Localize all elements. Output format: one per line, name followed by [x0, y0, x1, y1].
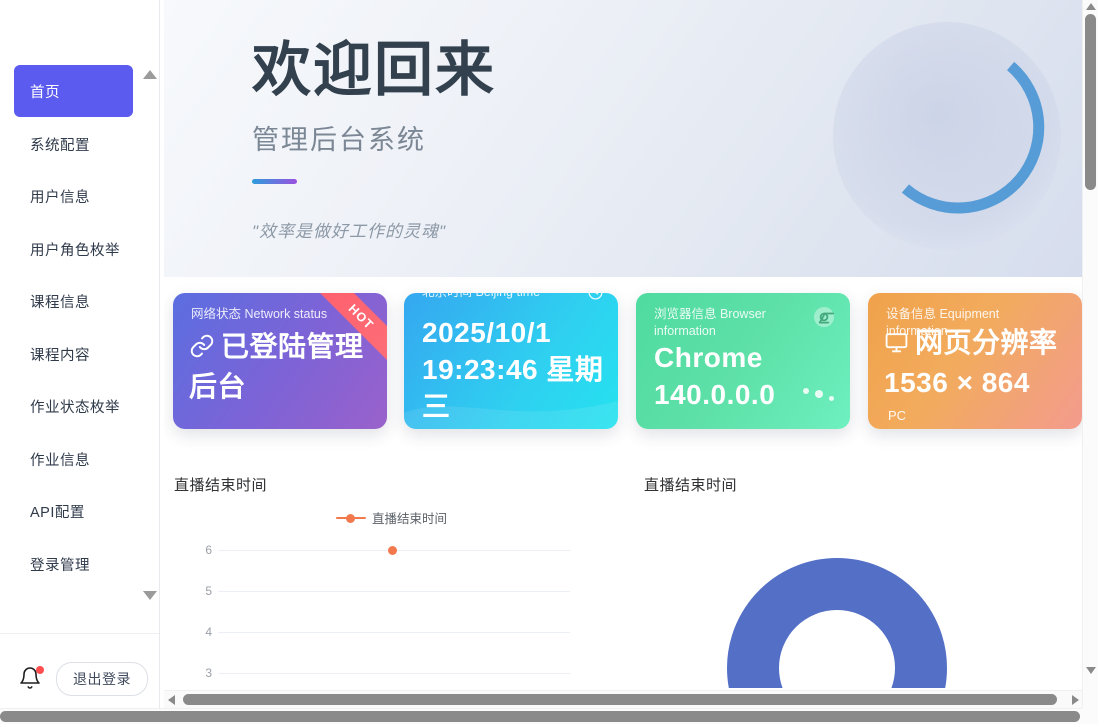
accent-divider	[252, 179, 297, 184]
scrollbar-thumb[interactable]	[183, 694, 1057, 705]
welcome-banner-text: 欢迎回来 管理后台系统 "效率是做好工作的灵魂"	[252, 40, 712, 242]
stat-card-label: 浏览器信息 Browser information	[654, 306, 804, 340]
stat-card-value-text: 已登陆管理后台	[189, 331, 364, 402]
stat-card-browser-info[interactable]: 浏览器信息 Browser information Chrome 140.0.0…	[636, 293, 850, 429]
triangle-down-icon[interactable]	[143, 591, 157, 601]
arrow-down-icon[interactable]	[1086, 667, 1096, 674]
stat-card-label-text: 北京时间 Beijing time	[422, 293, 540, 299]
chart-title: 直播结束时间	[644, 474, 737, 495]
sidebar-item-label: 系统配置	[30, 134, 90, 155]
sidebar-item-label: 课程信息	[30, 291, 90, 312]
scrollbar-thumb[interactable]	[1085, 14, 1096, 190]
sidebar-item-label: 用户信息	[30, 186, 90, 207]
stat-card-label: 北京时间 Beijing time	[422, 293, 572, 306]
chart-gridline	[218, 591, 570, 592]
scrollbar-corner	[1082, 708, 1098, 724]
clock-icon	[587, 293, 604, 306]
stat-card-value: 已登陆管理后台	[189, 329, 377, 406]
y-axis-tick-label: 6	[192, 543, 212, 557]
stat-card-device-info[interactable]: 设备信息 Equipment information 网页分辨率 1536 × …	[868, 293, 1082, 429]
monitor-icon	[884, 328, 909, 365]
sidebar-item-label: 作业信息	[30, 449, 90, 470]
sidebar-item-label: 作业状态枚举	[30, 396, 120, 417]
dots-decoration	[803, 387, 837, 403]
chart-legend-label: 直播结束时间	[372, 508, 447, 527]
triangle-up-icon[interactable]	[143, 70, 157, 80]
motto-text: "效率是做好工作的灵魂"	[252, 217, 712, 242]
stat-card-label: 网络状态 Network status	[191, 306, 341, 323]
page-horizontal-scrollbar[interactable]	[0, 708, 1098, 724]
sidebar-menu: 首页 系统配置 用户信息 用户角色枚举 课程信息 课程内容 作业状态枚举 作业信…	[0, 0, 138, 632]
bell-icon[interactable]	[18, 666, 42, 692]
sidebar-item-label: 登录管理	[30, 554, 90, 575]
chart-gridline	[218, 673, 570, 674]
sidebar-item-course-info[interactable]: 课程信息	[14, 275, 133, 327]
logout-button[interactable]: 退出登录	[56, 662, 148, 696]
logout-button-label: 退出登录	[73, 669, 131, 689]
chart-panel-live-end-time-pie: 直播结束时间	[634, 452, 1084, 688]
content-horizontal-scrollbar[interactable]	[164, 690, 1083, 708]
chart-title: 直播结束时间	[174, 474, 267, 495]
sidebar-item-label: API配置	[30, 501, 85, 522]
y-axis-tick-label: 3	[192, 666, 212, 680]
sidebar-item-login-admin[interactable]: 登录管理	[14, 538, 133, 590]
sidebar-item-user-info[interactable]: 用户信息	[14, 170, 133, 222]
progress-ring-icon	[829, 10, 1061, 260]
chart-gridline	[218, 632, 570, 633]
arrow-up-icon[interactable]	[1086, 3, 1096, 10]
sidebar-item-homework-info[interactable]: 作业信息	[14, 433, 133, 485]
scrollbar-thumb[interactable]	[0, 711, 1080, 722]
stat-card-value: 网页分辨率 1536 × 864	[884, 325, 1072, 402]
chart-legend-item[interactable]: 直播结束时间	[336, 508, 447, 527]
stat-card-note: PC	[888, 408, 906, 423]
sidebar: 首页 系统配置 用户信息 用户角色枚举 课程信息 课程内容 作业状态枚举 作业信…	[0, 0, 160, 724]
link-icon	[189, 332, 215, 369]
sidebar-item-system-config[interactable]: 系统配置	[14, 118, 133, 170]
y-axis-tick-label: 5	[192, 584, 212, 598]
wave-decoration	[404, 383, 618, 429]
sidebar-item-course-content[interactable]: 课程内容	[14, 328, 133, 380]
donut-chart[interactable]	[727, 558, 947, 688]
sidebar-item-label: 课程内容	[30, 344, 90, 365]
chrome-icon	[812, 305, 836, 329]
sidebar-item-api-config[interactable]: API配置	[14, 485, 133, 537]
stat-card-beijing-time[interactable]: 北京时间 Beijing time 2025/10/1 19:23:46 星期三	[404, 293, 618, 429]
sidebar-item-label: 用户角色枚举	[30, 239, 120, 260]
legend-marker-icon	[336, 512, 366, 524]
arrow-right-icon[interactable]	[1072, 695, 1079, 705]
main-content: 欢迎回来 管理后台系统 "效率是做好工作的灵魂" 网络状态 Network st…	[164, 0, 1086, 724]
sidebar-item-home[interactable]: 首页	[14, 65, 133, 117]
sidebar-item-label: 首页	[30, 81, 60, 102]
arrow-left-icon[interactable]	[168, 695, 175, 705]
sidebar-item-user-roles[interactable]: 用户角色枚举	[14, 223, 133, 275]
admin-dashboard-page: 首页 系统配置 用户信息 用户角色枚举 课程信息 课程内容 作业状态枚举 作业信…	[0, 0, 1098, 724]
stat-card-network-status[interactable]: 网络状态 Network status 已登陆管理后台 HOT	[173, 293, 387, 429]
notification-dot	[36, 666, 44, 674]
chart-panel-live-end-time-line: 直播结束时间 直播结束时间 6 5 4 3	[164, 452, 634, 688]
chart-data-point[interactable]	[388, 546, 397, 555]
y-axis-tick-label: 4	[192, 625, 212, 639]
page-title: 欢迎回来	[252, 40, 712, 102]
welcome-banner: 欢迎回来 管理后台系统 "效率是做好工作的灵魂"	[164, 0, 1083, 277]
page-vertical-scrollbar[interactable]	[1082, 0, 1098, 708]
stat-card-value-text: 网页分辨率 1536 × 864	[884, 327, 1058, 398]
page-subtitle: 管理后台系统	[252, 118, 712, 157]
sidebar-item-homework-status[interactable]: 作业状态枚举	[14, 380, 133, 432]
